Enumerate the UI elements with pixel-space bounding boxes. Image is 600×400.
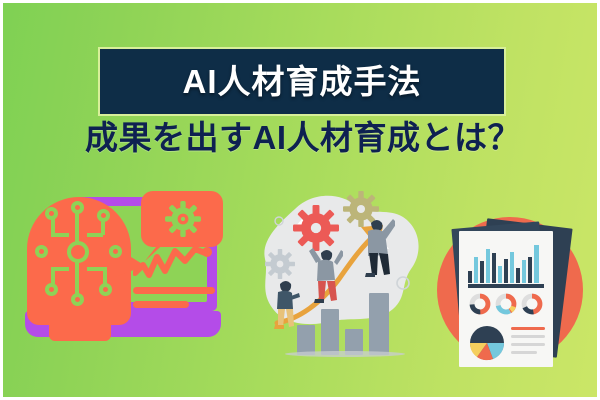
- text-bar: [133, 287, 215, 294]
- bar-chart: [297, 291, 393, 355]
- data-report-document-illustration: [427, 207, 593, 373]
- bar: [516, 268, 520, 283]
- circuit-wire: [75, 261, 79, 295]
- chart-axis: [468, 284, 544, 288]
- text-line: [511, 351, 537, 354]
- bar: [468, 271, 472, 283]
- line-chart-icon: [133, 247, 213, 281]
- pie-chart: [469, 325, 505, 361]
- circuit-node: [109, 245, 122, 258]
- text-line-accent: [511, 327, 545, 330]
- bar: [480, 261, 484, 283]
- bar: [486, 249, 490, 283]
- bar: [492, 253, 496, 283]
- bar: [528, 257, 532, 283]
- text-line: [511, 343, 545, 346]
- circuit-wire: [51, 269, 55, 287]
- gear-icon: [165, 201, 201, 237]
- donut-chart-3: [521, 293, 543, 315]
- page-title: AI人材育成手法: [183, 65, 422, 98]
- circuit-wire: [51, 267, 69, 271]
- title-box: AI人材育成手法: [98, 47, 506, 116]
- report-bar-chart: [468, 243, 544, 283]
- bar: [522, 260, 526, 283]
- text-bar: [133, 301, 189, 308]
- bar: [504, 259, 508, 283]
- bar: [510, 252, 514, 283]
- donut-chart-1: [469, 293, 491, 315]
- circuit-wire: [101, 219, 105, 235]
- head-neck: [49, 307, 111, 341]
- circuit-node: [35, 245, 48, 258]
- bar: [534, 245, 539, 283]
- bar: [498, 266, 502, 283]
- circuit-node-center: [67, 241, 89, 263]
- gear-icon-gray: [265, 249, 295, 279]
- circuit-wire: [75, 213, 79, 243]
- page-subtitle: 成果を出すAI人材育成とは？: [3, 121, 600, 154]
- ground-shadow: [285, 351, 405, 357]
- bar: [474, 257, 478, 283]
- paper-sheet-front: [459, 231, 553, 367]
- gear-icon-red: [293, 205, 339, 251]
- bar: [369, 293, 389, 355]
- banner-image: AI人材育成手法 成果を出すAI人材育成とは？: [0, 0, 600, 400]
- ai-brain-laptop-illustration: [15, 189, 227, 357]
- circuit-wire: [51, 233, 69, 237]
- circuit-wire: [103, 267, 107, 287]
- person-right: [359, 215, 395, 277]
- bar: [321, 309, 339, 355]
- donut-chart-2: [495, 293, 517, 315]
- team-growth-gears-illustration: [255, 191, 427, 357]
- text-line: [511, 335, 545, 338]
